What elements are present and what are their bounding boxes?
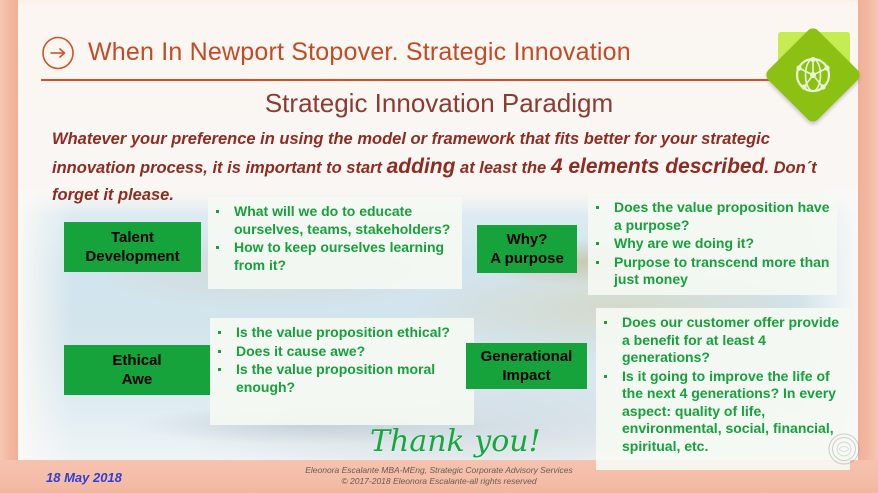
circled-arrow-right-icon (41, 36, 75, 70)
label-why-a-purpose: Why? A purpose (477, 225, 577, 273)
label-generational-impact: Generational Impact (466, 343, 587, 389)
label-line-1: Talent (85, 228, 179, 247)
list-item: Does our customer offer provide a benefi… (596, 314, 846, 367)
list-item: Does the value proposition have a purpos… (588, 199, 833, 234)
label-talent-development: Talent Development (64, 222, 201, 272)
list-item: Is it going to improve the life of the n… (596, 368, 846, 456)
list-item: Does it cause awe? (210, 343, 470, 361)
paragraph-emphasis-adding: adding (387, 155, 456, 178)
header-divider (41, 79, 781, 81)
label-line-1: Why? (490, 230, 564, 249)
list-item: What will we do to educate ourselves, te… (208, 203, 458, 238)
list-item: How to keep ourselves learning from it? (208, 239, 458, 274)
list-item: Is the value proposition moral enough? (210, 361, 470, 396)
circular-seal-watermark-icon (827, 432, 861, 466)
slide-subtitle: Strategic Innovation Paradigm (0, 88, 878, 119)
slide: When In Newport Stopover. Strategic Inno… (0, 0, 878, 493)
label-line-2: A purpose (490, 249, 564, 268)
label-line-2: Development (85, 247, 179, 266)
paragraph-part-2: at least the (455, 159, 550, 177)
credit-line-1: Eleonora Escalante MBA-MEng, Strategic C… (0, 465, 878, 476)
thank-you-text: Thank you! (370, 424, 541, 459)
slide-frame-left (0, 0, 18, 493)
label-line-1: Ethical (112, 351, 161, 370)
page-title: When In Newport Stopover. Strategic Inno… (88, 38, 631, 67)
list-item: Purpose to transcend more than just mone… (588, 254, 833, 289)
credit-line-2: © 2017-2018 Eleonora Escalante-all right… (0, 476, 878, 487)
list-item: Is the value proposition ethical? (210, 324, 470, 342)
label-line-2: Awe (112, 370, 161, 389)
label-line-2: Impact (481, 366, 573, 385)
slide-frame-top (0, 0, 878, 8)
list-item: Why are we doing it? (588, 235, 833, 253)
label-line-1: Generational (481, 347, 573, 366)
footer-credits: Eleonora Escalante MBA-MEng, Strategic C… (0, 465, 878, 487)
bullets-ethical-awe: Is the value proposition ethical? Does i… (210, 318, 474, 425)
bullets-talent-development: What will we do to educate ourselves, te… (208, 197, 462, 289)
paragraph-emphasis-elements: 4 elements described (551, 155, 765, 178)
label-ethical-awe: Ethical Awe (64, 345, 210, 395)
bullets-why-a-purpose: Does the value proposition have a purpos… (588, 193, 837, 295)
bullets-generational-impact: Does our customer offer provide a benefi… (596, 308, 850, 470)
